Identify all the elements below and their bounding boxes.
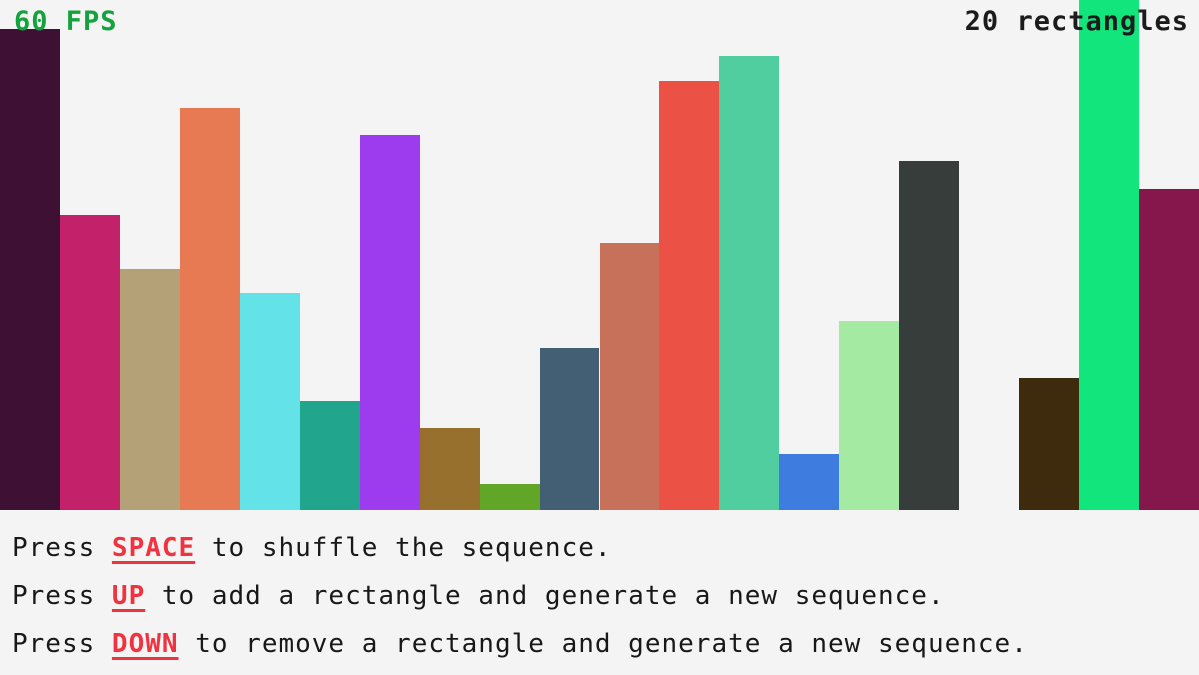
- key-up[interactable]: UP: [112, 581, 145, 611]
- bar-7-purple: [360, 135, 420, 510]
- bar-11-terracotta: [600, 243, 660, 510]
- bar-12-red: [659, 81, 719, 510]
- instruction-line-3: Press DOWN to remove a rectangle and gen…: [12, 620, 1199, 668]
- bar-chart-canvas[interactable]: [0, 0, 1199, 510]
- bar-15-light-green: [839, 321, 899, 510]
- instruction-prefix: Press: [12, 533, 112, 563]
- bar-16-charcoal: [899, 161, 959, 510]
- bar-8-brown: [420, 428, 480, 510]
- bar-2-magenta: [60, 215, 120, 510]
- instructions-panel: Press SPACE to shuffle the sequence.Pres…: [0, 510, 1199, 675]
- instruction-suffix: to remove a rectangle and generate a new…: [179, 629, 1028, 659]
- bar-18-dark-brown: [1019, 378, 1079, 510]
- key-down[interactable]: DOWN: [112, 629, 179, 659]
- instruction-prefix: Press: [12, 581, 112, 611]
- bar-6-teal: [300, 401, 360, 510]
- key-space[interactable]: SPACE: [112, 533, 195, 563]
- bar-9-olive-green: [480, 484, 540, 510]
- instruction-line-2: Press UP to add a rectangle and generate…: [12, 572, 1199, 620]
- bar-19-spring-green: [1079, 0, 1139, 510]
- bar-10-slate-blue: [540, 348, 600, 510]
- instruction-suffix: to add a rectangle and generate a new se…: [145, 581, 944, 611]
- instruction-suffix: to shuffle the sequence.: [195, 533, 611, 563]
- bar-1-dark-plum: [0, 29, 60, 510]
- instruction-prefix: Press: [12, 629, 112, 659]
- bar-14-royal-blue: [779, 454, 839, 510]
- fps-counter: 60 FPS: [14, 8, 118, 35]
- bar-20-maroon: [1139, 189, 1199, 510]
- bar-13-sea-green: [719, 56, 779, 510]
- bar-4-orange: [180, 108, 240, 510]
- instruction-line-1: Press SPACE to shuffle the sequence.: [12, 524, 1199, 572]
- rectangle-sequence-app: 60 FPS 20 rectangles Press SPACE to shuf…: [0, 0, 1199, 675]
- bar-3-tan: [120, 269, 180, 510]
- bar-5-cyan: [240, 293, 300, 510]
- rectangle-count-label: 20 rectangles: [965, 8, 1189, 35]
